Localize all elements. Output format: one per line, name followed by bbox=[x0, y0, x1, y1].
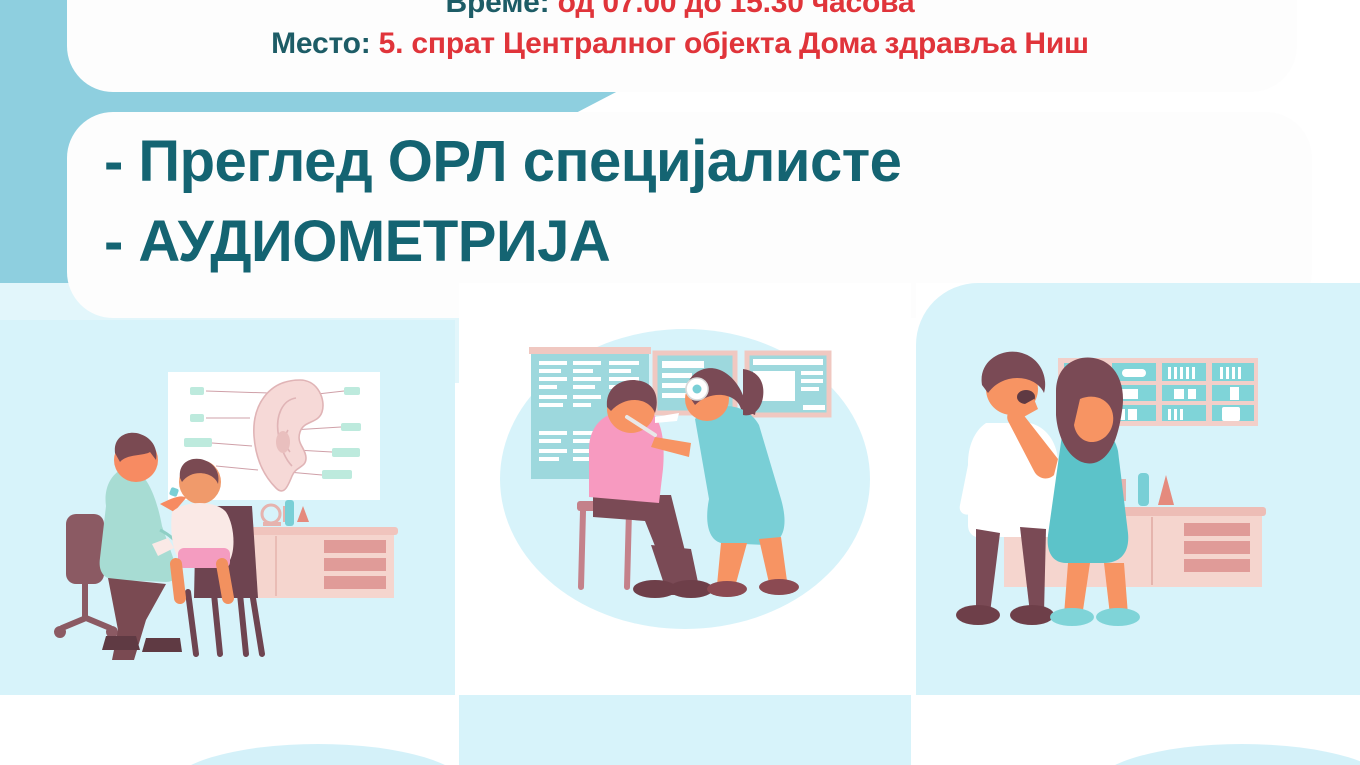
time-line: Време: од 07.00 до 15.30 часова bbox=[0, 0, 1360, 20]
place-line: Место: 5. спрат Централног објекта Дома … bbox=[0, 27, 1360, 61]
panel-3-corner-notch bbox=[916, 283, 978, 345]
throat-examination-standing-icon bbox=[916, 283, 1360, 695]
panel-2-bottom-extension bbox=[459, 695, 911, 765]
throat-examination-seated-icon bbox=[459, 283, 911, 695]
bottom-left-blob bbox=[168, 744, 468, 765]
illustration-panel-throat-standing bbox=[916, 283, 1360, 695]
poster-canvas: Време: од 07.00 до 15.30 часова Место: 5… bbox=[0, 0, 1360, 765]
illustration-panel-ear-examination bbox=[0, 320, 455, 695]
bottom-right-blob bbox=[1092, 744, 1360, 765]
place-label: Место: bbox=[271, 27, 370, 60]
service-item-orl: - Преглед ОРЛ специјалисте bbox=[104, 128, 901, 195]
ear-examination-child-icon bbox=[0, 320, 455, 695]
place-value: 5. спрат Централног објекта Дома здравља… bbox=[379, 27, 1089, 60]
illustration-panel-throat-seated bbox=[459, 283, 911, 695]
time-value: од 07.00 до 15.30 часова bbox=[558, 0, 915, 19]
service-item-audiometrija: - АУДИОМЕТРИЈА bbox=[104, 208, 610, 275]
time-label: Време: bbox=[446, 0, 550, 19]
